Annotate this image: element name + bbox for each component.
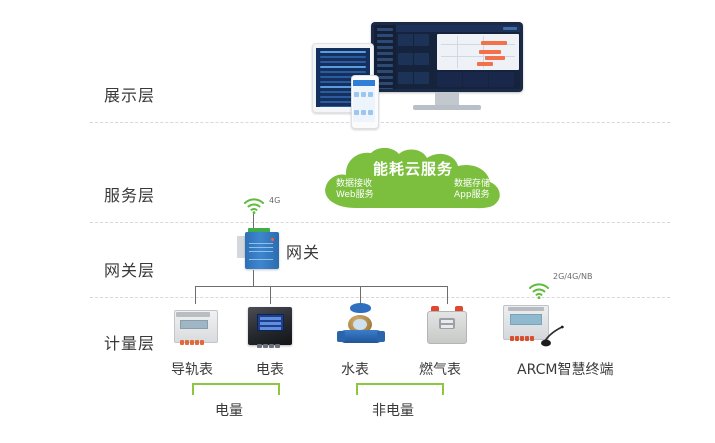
din-rail-meter-device [170, 308, 222, 346]
gateway-label: 网关 [286, 239, 320, 263]
gateway-body [245, 232, 279, 269]
gas-meter-device [425, 306, 469, 346]
divider-display-service [90, 122, 670, 123]
dashboard-topbar [396, 25, 520, 32]
device-label-din-rail-meter: 导轨表 [171, 359, 213, 379]
line-drop-gas-meter [447, 286, 448, 304]
line-drop-water-meter [360, 286, 361, 304]
gateway-uplink-label: 4G [269, 196, 280, 205]
line-drop-din-rail-meter [195, 286, 196, 304]
smartphone-device [351, 75, 379, 129]
desktop-monitor [371, 22, 523, 92]
arcm-uplink-label: 2G/4G/NB [553, 272, 592, 281]
divider-gateway-metering [90, 297, 670, 298]
antenna-icon [540, 325, 566, 347]
divider-service-gateway [90, 222, 670, 223]
wifi-signal-icon [528, 283, 550, 299]
device-label-arcm-terminal: ARCM智慧终端 [517, 359, 613, 379]
layer-label-gateway: 网关层 [104, 257, 194, 281]
cloud-feature-receive: 数据接收 Web服务 [336, 179, 374, 201]
layer-label-service: 服务层 [104, 182, 194, 206]
water-meter-device [337, 303, 385, 347]
gateway-device [237, 228, 283, 270]
energy-cloud-service: 能耗云服务 数据接收 Web服务 数据存储 App服务 [318, 148, 508, 210]
device-label-panel-meter: 电表 [256, 359, 284, 379]
monitor-stand-neck [435, 92, 459, 105]
device-label-gas-meter: 燃气表 [419, 359, 461, 379]
line-device-bus [195, 286, 447, 287]
group-label-non-electric: 非电量 [372, 400, 414, 420]
dashboard-stat-cards [398, 34, 434, 89]
cloud-title: 能耗云服务 [318, 158, 508, 179]
wifi-signal-icon [243, 198, 265, 214]
cloud-feature-storage: 数据存储 App服务 [454, 179, 490, 201]
panel-meter-device [248, 307, 294, 347]
dashboard-map-panel [437, 34, 519, 70]
line-gateway-trunk [253, 270, 254, 286]
monitor-screen [374, 25, 520, 89]
line-drop-panel-meter [270, 286, 271, 304]
architecture-diagram: 展示层 服务层 网关层 计量层 [0, 0, 715, 443]
dashboard-chart-row [437, 72, 519, 87]
phone-screen [353, 80, 375, 122]
group-label-electric: 电量 [215, 400, 243, 420]
layer-label-display: 展示层 [104, 82, 194, 106]
device-label-water-meter: 水表 [341, 359, 369, 379]
monitor-stand-base [413, 105, 481, 110]
